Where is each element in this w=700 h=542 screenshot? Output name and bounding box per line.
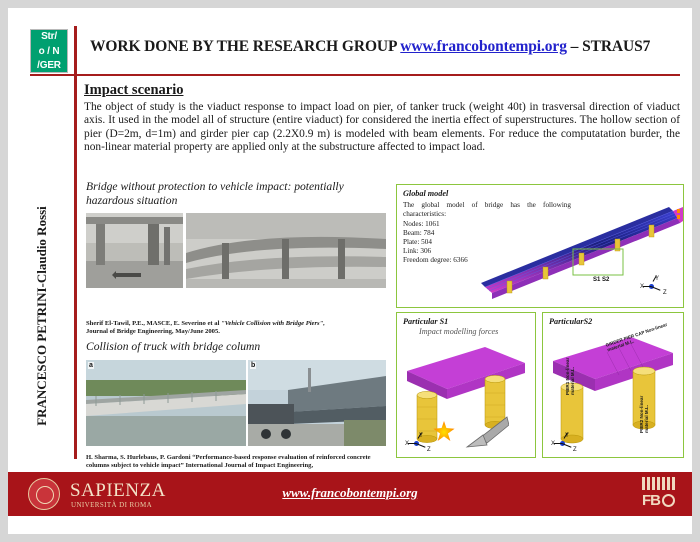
logo-line-1: Str/ bbox=[31, 30, 67, 45]
photo-bridge-column-b: b bbox=[248, 360, 386, 446]
header-url-link[interactable]: www.francobontempi.org bbox=[400, 38, 567, 55]
stronger-logo: Str/ o / N /GER bbox=[30, 29, 68, 73]
slide: Str/ o / N /GER WORK DONE BY THE RESEARC… bbox=[8, 8, 692, 534]
left-caption-1: Bridge without protection to vehicle imp… bbox=[86, 180, 386, 207]
citation-1: Sherif El-Tawil, P.E., MASCE, E. Severin… bbox=[86, 320, 388, 336]
fb-logo-text: FB bbox=[642, 492, 660, 509]
header-title: WORK DONE BY THE RESEARCH GROUP www.fran… bbox=[90, 38, 680, 56]
photo-bridge-pier-1 bbox=[86, 213, 183, 288]
logo-line-3: /GER bbox=[31, 59, 67, 73]
footer-url-link[interactable]: www.francobontempi.org bbox=[8, 485, 692, 501]
global-model-marker-tag: S1 S2 bbox=[593, 277, 609, 283]
citation-1-authors: Sherif El-Tawil, P.E., MASCE, E. Severin… bbox=[86, 320, 221, 327]
photo-label-b: b bbox=[250, 362, 256, 369]
s1-axis-x-label: X bbox=[405, 441, 409, 447]
section-title: Impact scenario bbox=[84, 82, 183, 99]
global-axis-x-label: X bbox=[640, 284, 644, 290]
s2-title: ParticularS2 bbox=[549, 317, 592, 326]
header-rule bbox=[30, 74, 680, 76]
fb-logo-ring-icon bbox=[662, 494, 675, 507]
s1-axis-z-label: Z bbox=[427, 447, 431, 453]
s2-pier1-label: PIER1 Non-linear material M.L. bbox=[565, 349, 575, 395]
panel-particular-s2: ParticularS2 GIRDER PIER CAP Non-linear bbox=[542, 312, 684, 458]
header-title-suffix: – STRAUS7 bbox=[571, 38, 651, 55]
global-model-title: Global model bbox=[403, 189, 448, 198]
citation-1-journal: Journal of Bridge Engineering, May/June … bbox=[86, 328, 220, 335]
panel-global-model: Global model The global model of bridge … bbox=[396, 184, 684, 308]
author-sidebar-label: FRANCESCO PETRINI-Claudio Rossi bbox=[34, 186, 50, 446]
logo-line-2b: N bbox=[52, 46, 59, 57]
header-title-prefix: WORK DONE BY THE RESEARCH GROUP bbox=[90, 38, 397, 55]
logo-line-2a: o bbox=[39, 46, 45, 57]
photo-label-a: a bbox=[88, 362, 94, 369]
s1-title: Particular S1 bbox=[403, 317, 448, 326]
s2-pier2-label: PIER2 Non-linear material M.L. bbox=[639, 387, 649, 433]
impact-force-arrow-icon bbox=[453, 413, 509, 451]
fb-logo: FB bbox=[642, 477, 676, 511]
s2-axis-x-label: X bbox=[551, 441, 555, 447]
body-divider bbox=[74, 76, 77, 459]
s1-subtitle: Impact modelling forces bbox=[419, 327, 498, 336]
global-axis-z-label: Z bbox=[663, 290, 667, 296]
header-divider bbox=[74, 26, 77, 74]
footer-bar: SAPIENZA UNIVERSITÀ DI ROMA www.francobo… bbox=[8, 472, 692, 516]
section-paragraph: The object of study is the viaduct respo… bbox=[84, 101, 680, 155]
citation-1-title: "Vehicle Collision with Bridge Piers", bbox=[221, 320, 325, 327]
photo-highway-interchange bbox=[186, 213, 386, 288]
left-caption-2: Collision of truck with bridge column bbox=[86, 340, 386, 354]
s2-axis-z-label: Z bbox=[573, 447, 577, 453]
citation-2: H. Sharma, S. Hurlebaus, P. Gardoni “Per… bbox=[86, 454, 388, 470]
photo-bridge-column-a: a bbox=[86, 360, 246, 446]
logo-line-2: o / N bbox=[31, 45, 67, 60]
footer-university-sub: UNIVERSITÀ DI ROMA bbox=[71, 501, 152, 509]
fb-logo-grid-icon bbox=[642, 477, 676, 490]
panel-particular-s1: Particular S1 Impact modelling forces bbox=[396, 312, 536, 458]
